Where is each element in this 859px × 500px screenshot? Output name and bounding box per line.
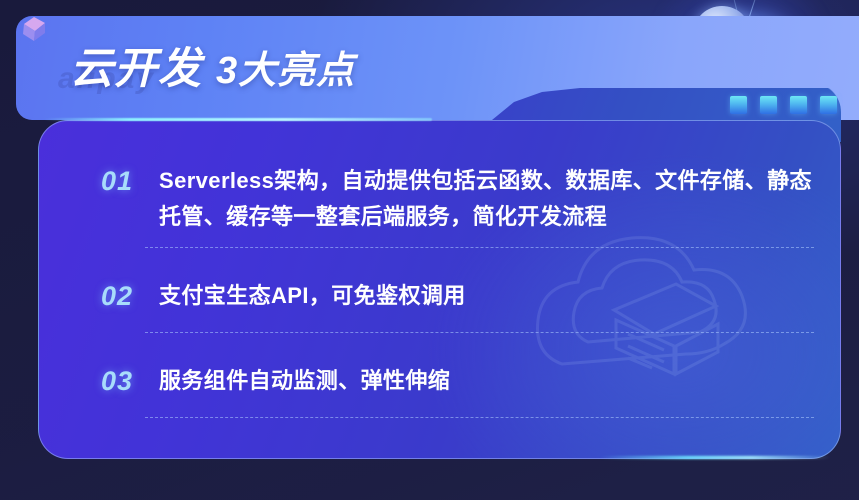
list-item: 01 Serverless架构，自动提供包括云函数、数据库、文件存储、静态托管、… xyxy=(101,163,813,235)
page-title: 云开发3大亮点 xyxy=(70,44,355,96)
square-tile-icon-3 xyxy=(790,96,807,114)
list-item-text: 支付宝生态API，可免鉴权调用 xyxy=(159,278,813,314)
promo-poster: alipay 云开发3大亮点 xyxy=(0,0,859,500)
square-tile-icon-1 xyxy=(730,96,747,114)
list-separator xyxy=(145,417,814,418)
highlights-list: 01 Serverless架构，自动提供包括云函数、数据库、文件存储、静态托管、… xyxy=(38,120,841,459)
list-separator xyxy=(145,332,814,333)
list-item-number: 01 xyxy=(101,163,159,199)
list-item-text: Serverless架构，自动提供包括云函数、数据库、文件存储、静态托管、缓存等… xyxy=(159,163,813,235)
list-item-text: 服务组件自动监测、弹性伸缩 xyxy=(159,363,813,399)
list-item: 02 支付宝生态API，可免鉴权调用 xyxy=(101,278,813,314)
cube-3d-icon xyxy=(20,14,50,44)
list-item-number: 02 xyxy=(101,278,159,314)
list-item-number: 03 xyxy=(101,363,159,399)
page-title-sub: 3大亮点 xyxy=(216,50,355,92)
page-title-main: 云开发 xyxy=(70,45,202,93)
square-tile-icon-4 xyxy=(820,96,837,114)
list-item: 03 服务组件自动监测、弹性伸缩 xyxy=(101,363,813,399)
list-separator xyxy=(145,247,814,248)
cloud-antenna-line xyxy=(749,0,760,17)
square-tile-icon-2 xyxy=(760,96,777,114)
square-tiles-row xyxy=(730,96,837,114)
